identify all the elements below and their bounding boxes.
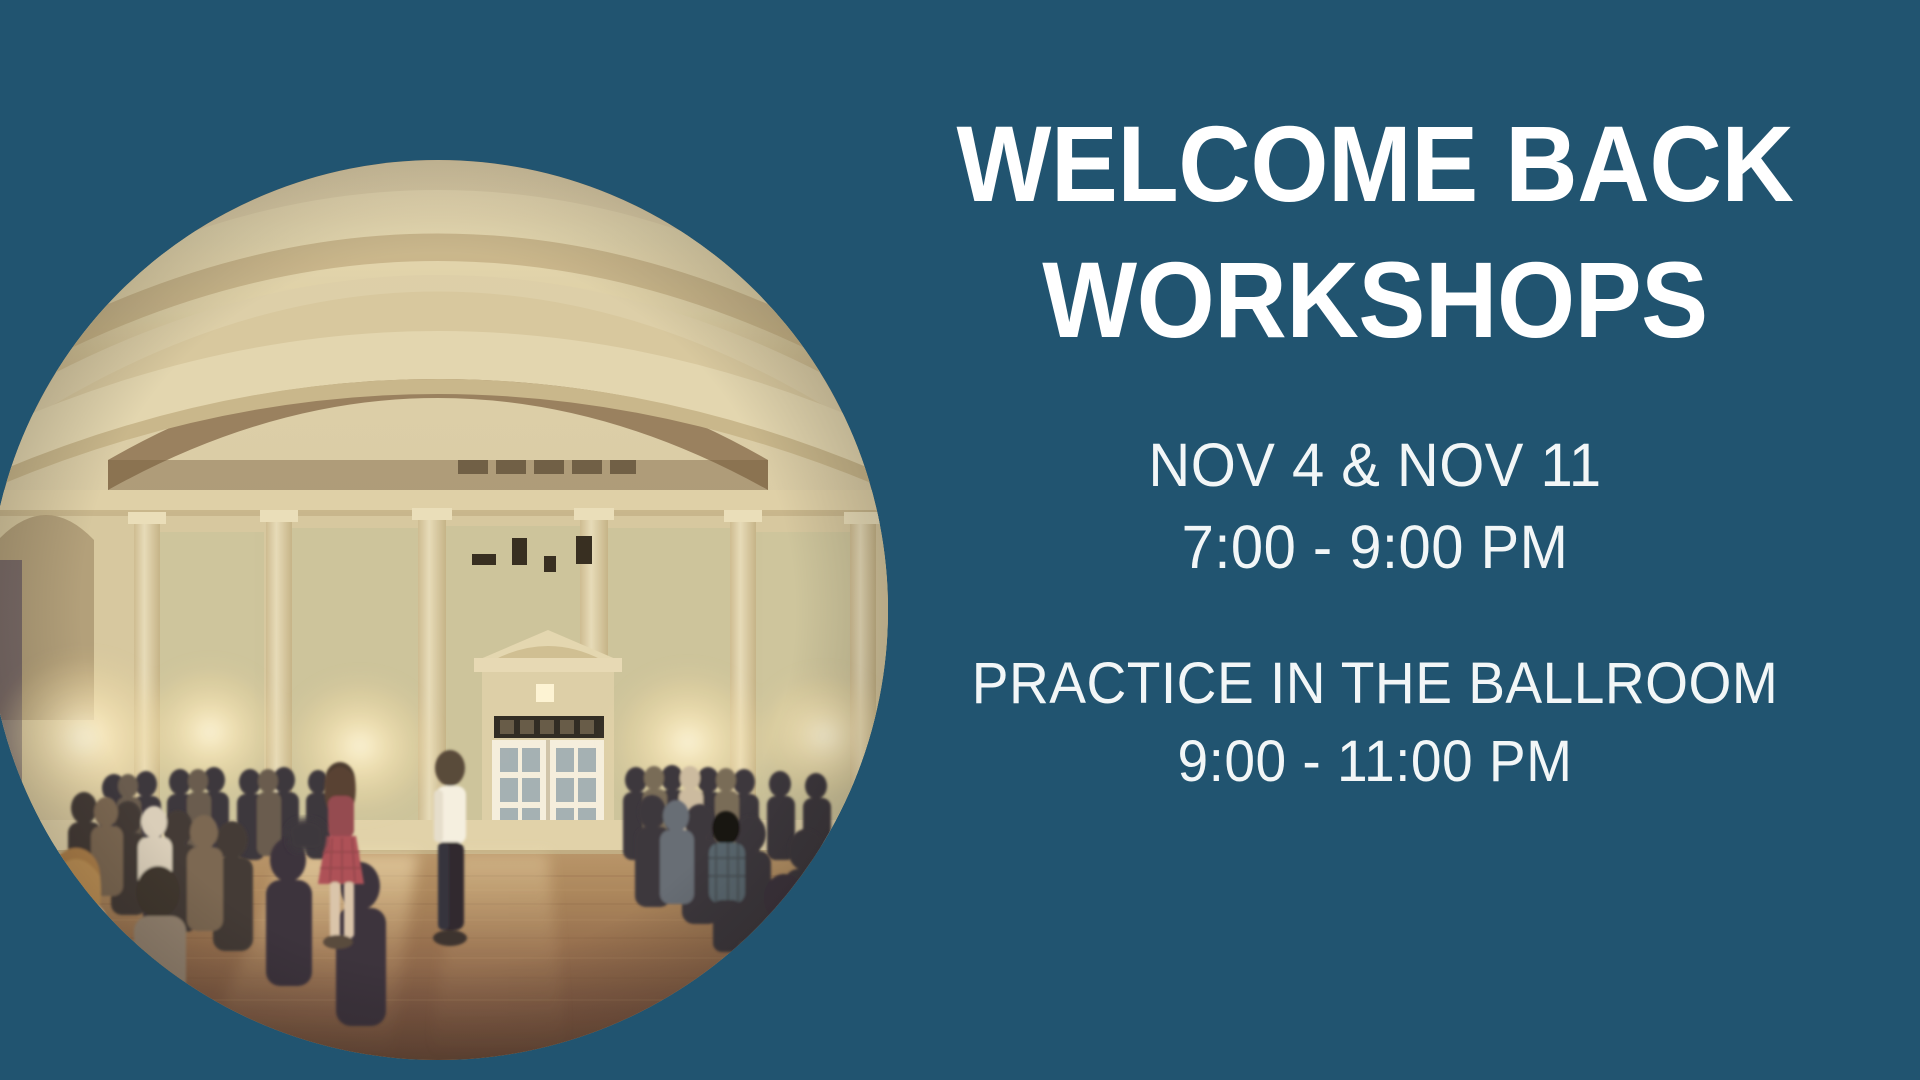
workshop-time: 7:00 - 9:00 PM: [857, 507, 1893, 589]
poster: WELCOME BACK WORKSHOPS NOV 4 & NOV 11 7:…: [0, 0, 1920, 1080]
text-column: WELCOME BACK WORKSHOPS NOV 4 & NOV 11 7:…: [830, 0, 1920, 1080]
practice-label: PRACTICE IN THE BALLROOM: [857, 645, 1893, 723]
headline-line-2: WORKSHOPS: [868, 232, 1882, 368]
practice-block: PRACTICE IN THE BALLROOM 9:00 - 11:00 PM: [857, 645, 1893, 800]
practice-time: 9:00 - 11:00 PM: [857, 723, 1893, 801]
ballroom-photo: [0, 160, 888, 1060]
schedule-block: NOV 4 & NOV 11 7:00 - 9:00 PM: [857, 425, 1893, 588]
workshop-dates: NOV 4 & NOV 11: [857, 425, 1893, 507]
page-title: WELCOME BACK WORKSHOPS: [868, 96, 1882, 368]
headline-line-1: WELCOME BACK: [868, 96, 1882, 232]
